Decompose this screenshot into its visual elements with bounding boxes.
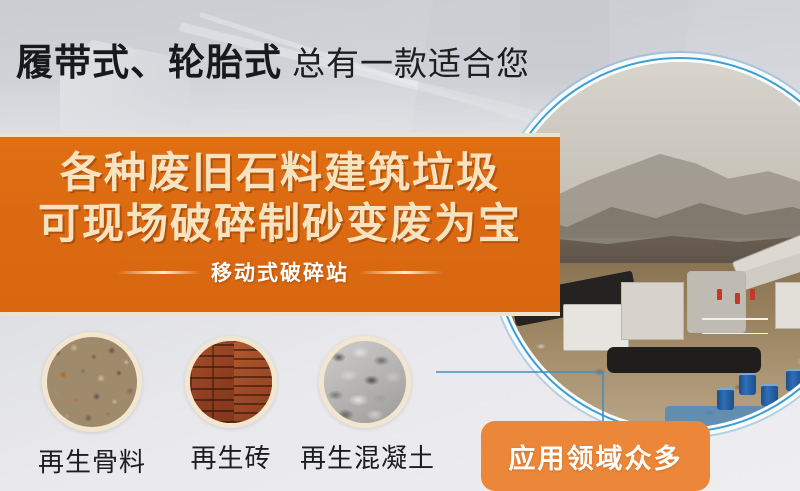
promo-banner: 各种废旧石料建筑垃圾 可现场破碎制砂变废为宝 移动式破碎站 xyxy=(0,133,560,316)
hero-barrel-5 xyxy=(717,388,734,410)
hero-crawler-track xyxy=(607,347,761,373)
hero-machine-body-1 xyxy=(563,304,629,352)
promo-subtitle: 移动式破碎站 xyxy=(211,257,349,287)
recycled-concrete-photo xyxy=(319,336,411,428)
headline-strong: 履带式、轮胎式 xyxy=(16,32,282,86)
product-item-concrete: 再生混凝土 xyxy=(300,336,430,475)
decorative-line-left xyxy=(117,271,201,274)
product-label-brick: 再生砖 xyxy=(170,438,292,475)
recycled-aggregate-photo xyxy=(42,332,142,432)
hero-railing-2 xyxy=(702,333,768,335)
brick-texture xyxy=(190,341,272,423)
concrete-texture xyxy=(324,341,406,423)
hero-worker-2 xyxy=(735,293,740,304)
hero-barrel-2 xyxy=(761,384,778,406)
headline: 履带式、轮胎式 总有一款适合您 xyxy=(16,32,530,86)
promo-line-2: 可现场破碎制砂变废为宝 xyxy=(0,198,560,249)
promo-line-1: 各种废旧石料建筑垃圾 xyxy=(0,147,560,198)
product-label-concrete: 再生混凝土 xyxy=(300,438,430,475)
badge-label: 应用领域众多 xyxy=(509,437,683,476)
promotional-banner: 履带式、轮胎式 总有一款适合您 各种废旧石料建筑垃圾 可现场破碎制 xyxy=(0,0,800,491)
headline-light: 总有一款适合您 xyxy=(292,37,530,85)
hero-worker-3 xyxy=(750,289,755,300)
hero-machine-body-2 xyxy=(621,282,683,341)
recycled-brick-photo xyxy=(185,336,277,428)
decorative-line-right xyxy=(359,271,443,274)
product-item-brick: 再生砖 xyxy=(170,336,292,475)
application-areas-badge[interactable]: 应用领域众多 xyxy=(481,421,710,491)
aggregate-texture xyxy=(47,337,137,427)
promo-subtitle-row: 移动式破碎站 xyxy=(0,257,560,287)
product-label-aggregate: 再生骨料 xyxy=(22,442,162,479)
hero-worker-1 xyxy=(717,289,722,300)
hero-barrel-1 xyxy=(739,373,756,395)
hero-machine-body-4 xyxy=(775,282,800,330)
product-item-aggregate: 再生骨料 xyxy=(22,332,162,479)
hero-barrel-3 xyxy=(786,369,800,391)
product-list: 再生骨料 再生砖 再生混凝土 xyxy=(0,328,500,491)
hero-railing-1 xyxy=(702,318,768,320)
